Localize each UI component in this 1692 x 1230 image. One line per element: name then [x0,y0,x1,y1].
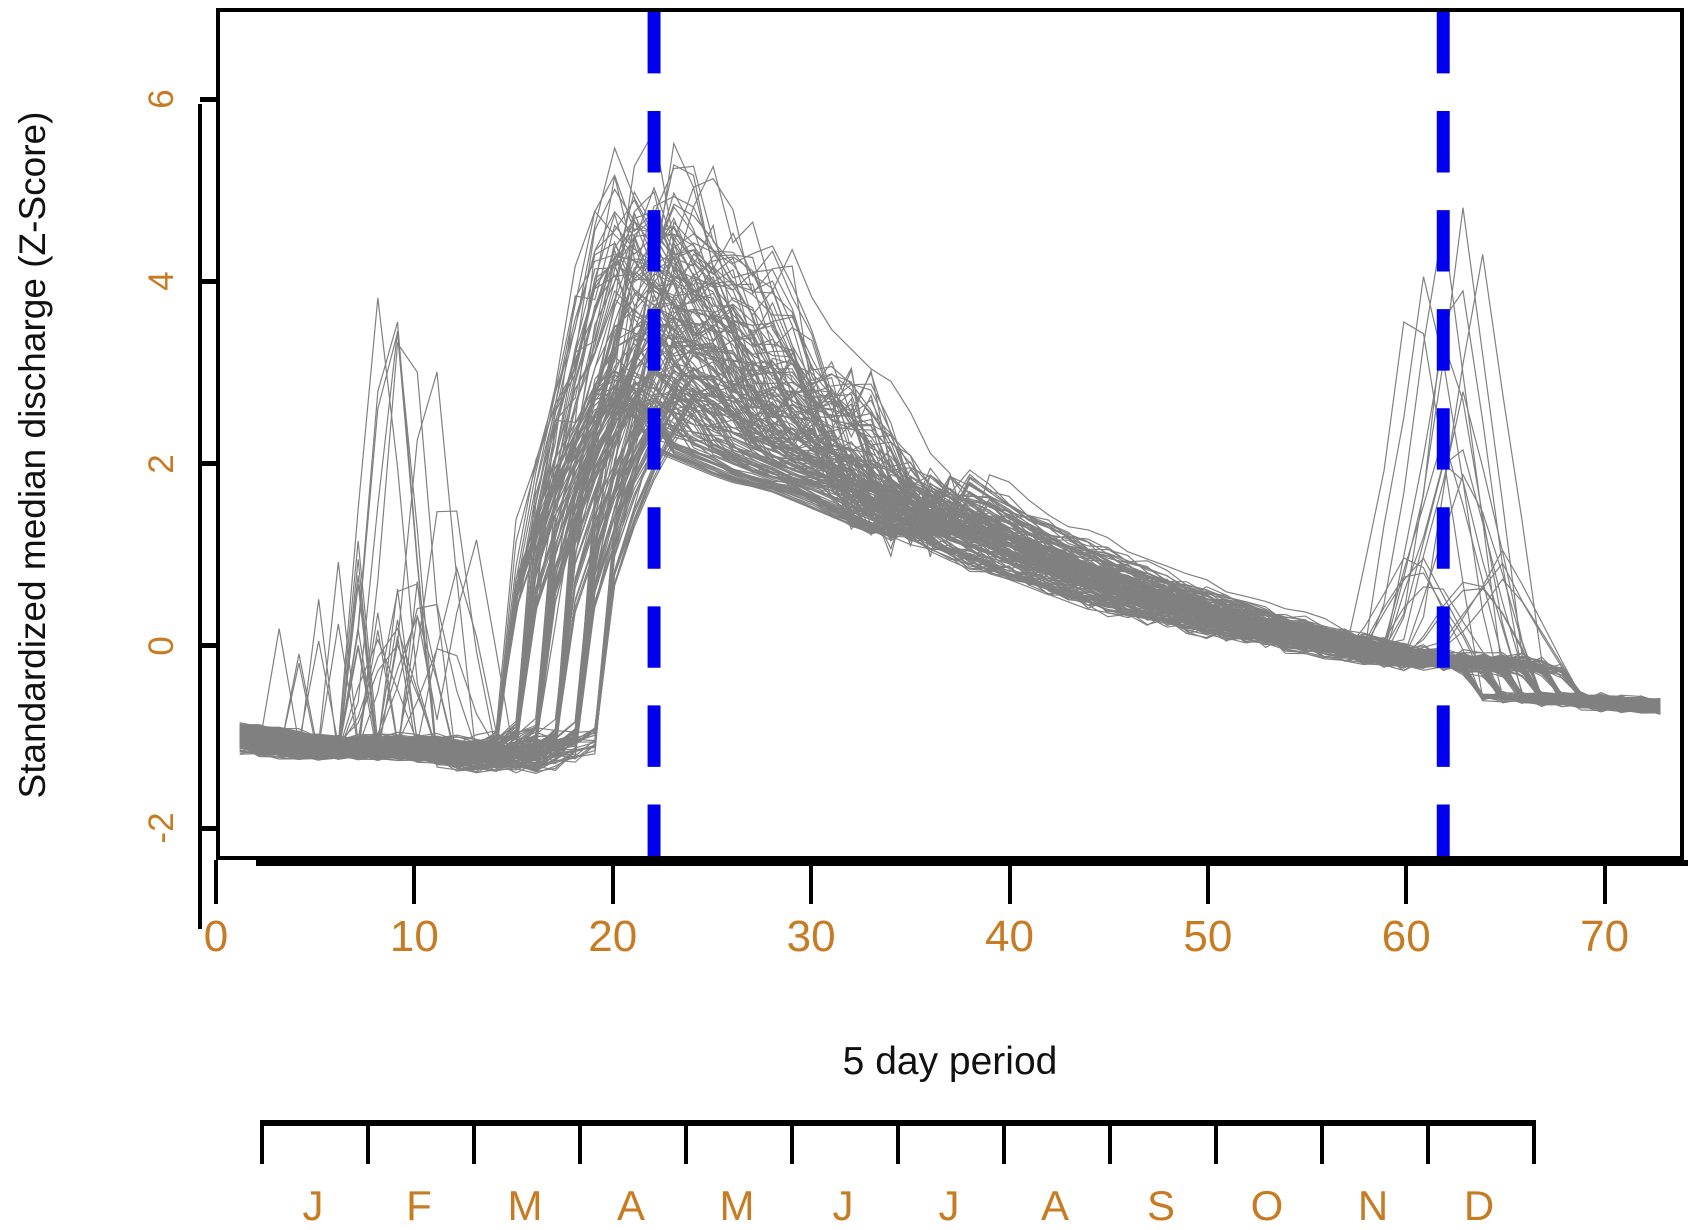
x-tick-label: 70 [1560,912,1650,962]
x-tick [412,860,416,904]
x-axis-line [256,860,1688,866]
hydrograph-line [240,204,1661,768]
y-tick [200,461,216,466]
month-tick [1002,1120,1006,1164]
month-label: O [1227,1182,1307,1230]
y-axis: 6420-2 [200,8,216,918]
x-tick [1404,860,1408,904]
x-tick [1603,860,1607,904]
month-label: F [379,1182,459,1230]
y-tick-label: -2 [142,793,172,863]
month-label: S [1121,1182,1201,1230]
month-label: J [273,1182,353,1230]
y-axis-title: Standardized median discharge (Z-Score) [12,15,72,895]
month-tick [366,1120,370,1164]
y-tick-label: 6 [142,64,172,134]
y-axis-line [198,104,202,929]
x-tick-label: 50 [1163,912,1253,962]
x-tick-label: 30 [766,912,856,962]
x-tick-label: 10 [369,912,459,962]
hydrograph-line [240,218,1661,760]
month-tick [790,1120,794,1164]
y-tick-label: 2 [142,429,172,499]
series-canvas [220,12,1680,856]
month-tick [1532,1120,1536,1164]
y-tick [200,279,216,284]
month-tick [578,1120,582,1164]
x-tick [611,860,615,904]
month-label: M [697,1182,777,1230]
y-tick [200,643,216,648]
month-label: J [803,1182,883,1230]
y-tick-label: 0 [142,611,172,681]
y-tick [200,97,216,102]
month-tick [260,1120,264,1164]
month-tick [472,1120,476,1164]
x-axis-title: 5 day period [216,1040,1684,1084]
month-tick [896,1120,900,1164]
x-tick-label: 40 [965,912,1055,962]
x-tick [214,860,218,904]
month-tick [1108,1120,1112,1164]
plot-area [216,8,1684,860]
month-tick [1426,1120,1430,1164]
month-tick [1214,1120,1218,1164]
x-tick [809,860,813,904]
x-tick [1206,860,1210,904]
x-axis: 010203040506070 [216,860,1684,930]
month-axis: JFMAMJJASOND [260,1120,1532,1220]
month-label: A [591,1182,671,1230]
month-label: N [1333,1182,1413,1230]
month-tick [1320,1120,1324,1164]
month-label: D [1439,1182,1519,1230]
y-tick-label: 4 [142,246,172,316]
x-tick-label: 0 [171,912,261,962]
month-tick [684,1120,688,1164]
y-tick [200,826,216,831]
hydrograph-line [240,208,1661,763]
hydrograph-line [240,207,1661,766]
x-tick-label: 20 [568,912,658,962]
x-tick-label: 60 [1361,912,1451,962]
hydrograph-line [240,226,1661,757]
chart-figure: Standardized median discharge (Z-Score) … [0,0,1692,1225]
month-label: M [485,1182,565,1230]
month-label: J [909,1182,989,1230]
x-tick [1008,860,1012,904]
month-label: A [1015,1182,1095,1230]
